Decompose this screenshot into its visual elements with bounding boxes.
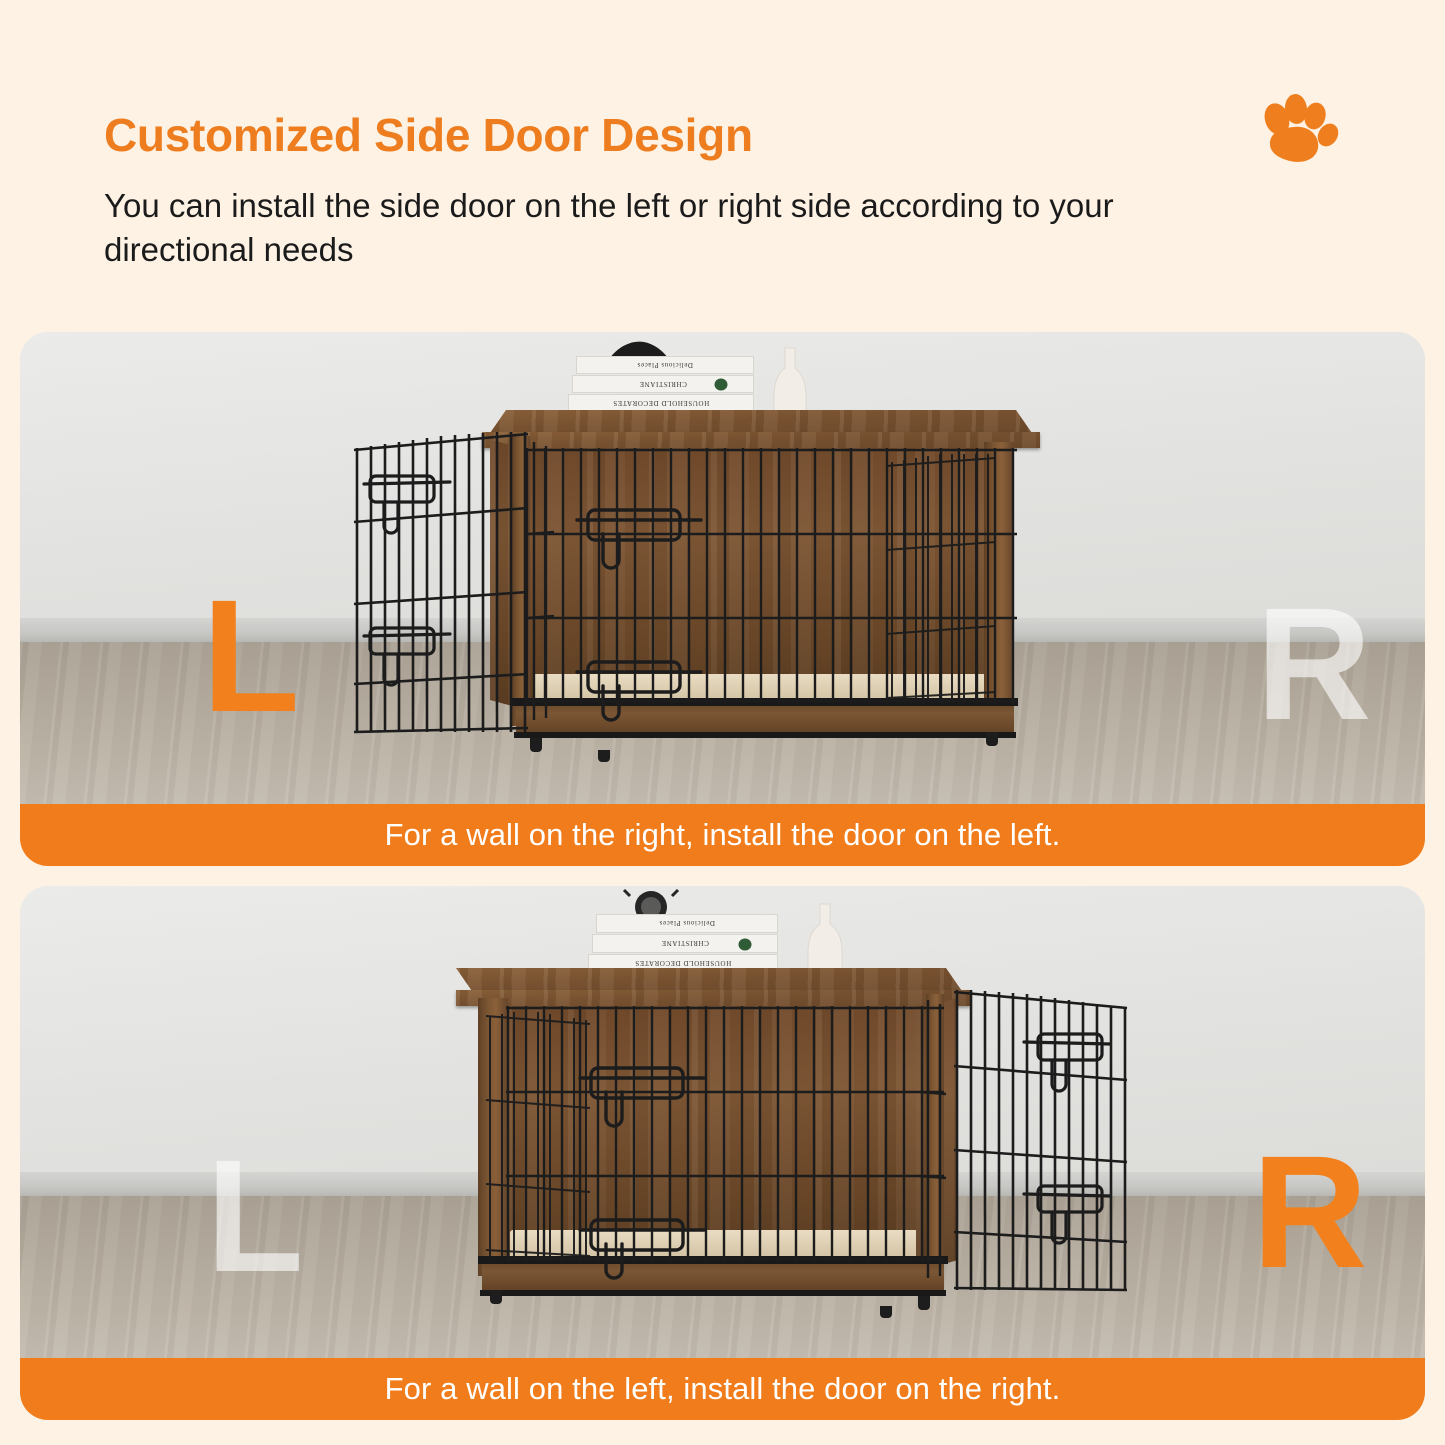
dog-crate-left-door: Delicious Places CHRISTIANE HOUSEHOLD DE…: [20, 332, 1425, 804]
caption-right-door: For a wall on the left, install the door…: [20, 1358, 1425, 1420]
side-door-panel-open-left[interactable]: [354, 432, 530, 740]
scene-left-door: L R Delicious Places CHRISTIANE HOUSEHOL: [20, 332, 1425, 804]
book-item: HOUSEHOLD DECORATES: [568, 394, 754, 412]
crate-foot: [986, 732, 998, 746]
crate-foot: [918, 1296, 930, 1310]
scene-right-door: L R Delicious Places CHRISTIANE: [20, 886, 1425, 1358]
page-title: Customized Side Door Design: [104, 108, 753, 162]
crate-top-edge: [482, 432, 1040, 448]
paw-print-icon: [1258, 92, 1340, 170]
caption-left-door: For a wall on the right, install the doo…: [20, 804, 1425, 866]
crate-foot: [530, 738, 542, 752]
crate-foot: [598, 750, 610, 762]
book-item: Delicious Places: [596, 914, 778, 933]
door-hinge-column: [528, 442, 554, 722]
header: Customized Side Door Design You can inst…: [0, 0, 1445, 330]
crate-base-frame: [480, 1290, 946, 1296]
ceramic-vase: [768, 346, 812, 421]
left-side-wire-panel: [486, 1012, 590, 1262]
panel-right-door: L R Delicious Places CHRISTIANE: [20, 886, 1425, 1420]
right-side-wire-panel: [886, 454, 996, 706]
door-hinge-column: [920, 1000, 946, 1280]
book-item: Delicious Places: [576, 356, 754, 374]
crate-top-edge: [456, 990, 970, 1006]
side-door-panel-open-right[interactable]: [952, 990, 1128, 1298]
crate-base-frame: [514, 732, 1016, 738]
panel-left-door: L R Delicious Places CHRISTIANE HOUSEHOL: [20, 332, 1425, 866]
crate-foot: [880, 1306, 892, 1318]
ceramic-vase: [802, 902, 848, 979]
page-subtitle: You can install the side door on the lef…: [104, 184, 1114, 272]
crate-foot: [490, 1290, 502, 1304]
book-stack: Delicious Places CHRISTIANE HOUSEHOLD DE…: [568, 356, 758, 412]
book-stack: Delicious Places CHRISTIANE HOUSEHOLD DE…: [588, 914, 784, 972]
dog-crate-right-door: Delicious Places CHRISTIANE HOUSEHOLD DE…: [20, 886, 1425, 1358]
